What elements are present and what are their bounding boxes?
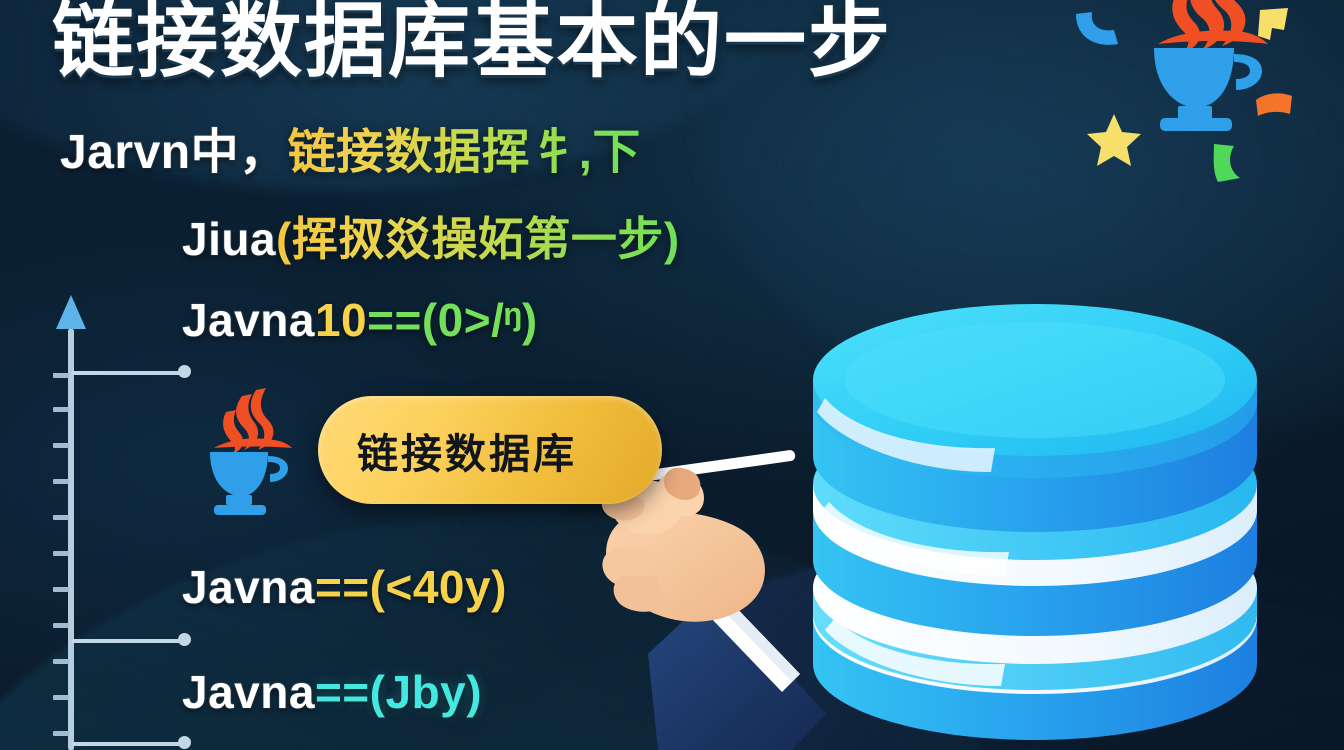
axis-tick [53, 479, 69, 484]
text-line-5-cyan: ==(Jby) [315, 666, 482, 718]
confetti-ribbon-orange-icon [1256, 92, 1292, 116]
confetti-arc-icon [1072, 8, 1122, 50]
connect-database-button-label: 链接数据库 [351, 420, 629, 480]
axis-tick [53, 443, 69, 448]
axis-tick [53, 587, 69, 592]
text-line-1-gradient: 链接数据挥牜,下 [288, 126, 641, 179]
text-line-4-white: Javna [182, 561, 315, 613]
text-line-1-white: Jarvn中， [60, 126, 288, 179]
axis-tick [53, 551, 69, 556]
axis-arrowhead-icon [56, 295, 86, 329]
text-line-1: Jarvn中，链接数据挥牜,下 [60, 112, 641, 182]
axis-connector-dot [178, 365, 191, 378]
text-line-5: Javna==(Jby) [182, 665, 482, 719]
axis-connector [72, 639, 184, 643]
text-line-2-gradient: (挥㧐㸚操妬第一步) [276, 213, 680, 265]
vertical-measure-axis [54, 295, 184, 750]
axis-line [68, 329, 74, 750]
axis-tick [53, 731, 69, 736]
axis-tick [53, 695, 69, 700]
text-line-3-yellow: 10 [315, 294, 367, 346]
axis-connector [72, 371, 184, 375]
axis-tick [53, 623, 69, 628]
infographic-canvas: 链接数据库基本的一步 Jarvn中，链接数据挥牜,下 Jiua(挥㧐㸚操妬第一步… [0, 0, 1344, 750]
database-cylinder-stack [795, 288, 1285, 750]
java-coffee-cup-icon [196, 388, 296, 518]
axis-connector-dot [178, 633, 191, 646]
confetti-ribbon-green-icon [1212, 144, 1242, 182]
text-line-2: Jiua(挥㧐㸚操妬第一步) [182, 203, 680, 269]
axis-tick [53, 373, 69, 378]
axis-tick [53, 515, 69, 520]
text-line-3-green: ==(0>/ᵑ) [367, 294, 538, 346]
axis-tick [53, 407, 69, 412]
confetti-star-icon [1086, 112, 1142, 168]
text-line-5-white: Javna [182, 666, 315, 718]
text-line-4: Javna==(<40y) [182, 560, 507, 614]
text-line-3-white: Javna [182, 294, 315, 346]
confetti-ribbon-yellow-icon [1258, 8, 1290, 42]
axis-tick [53, 659, 69, 664]
connect-database-button[interactable]: 链接数据库 [318, 396, 662, 504]
text-line-2-white: Jiua [182, 213, 276, 265]
text-line-4-yellow: ==(<40y) [315, 561, 507, 613]
text-line-3: Javna10==(0>/ᵑ) [182, 293, 538, 347]
axis-connector-dot [178, 736, 191, 749]
page-title: 链接数据库基本的一步 [52, 0, 892, 93]
axis-connector [72, 742, 184, 746]
java-coffee-cup-icon [1138, 0, 1272, 138]
